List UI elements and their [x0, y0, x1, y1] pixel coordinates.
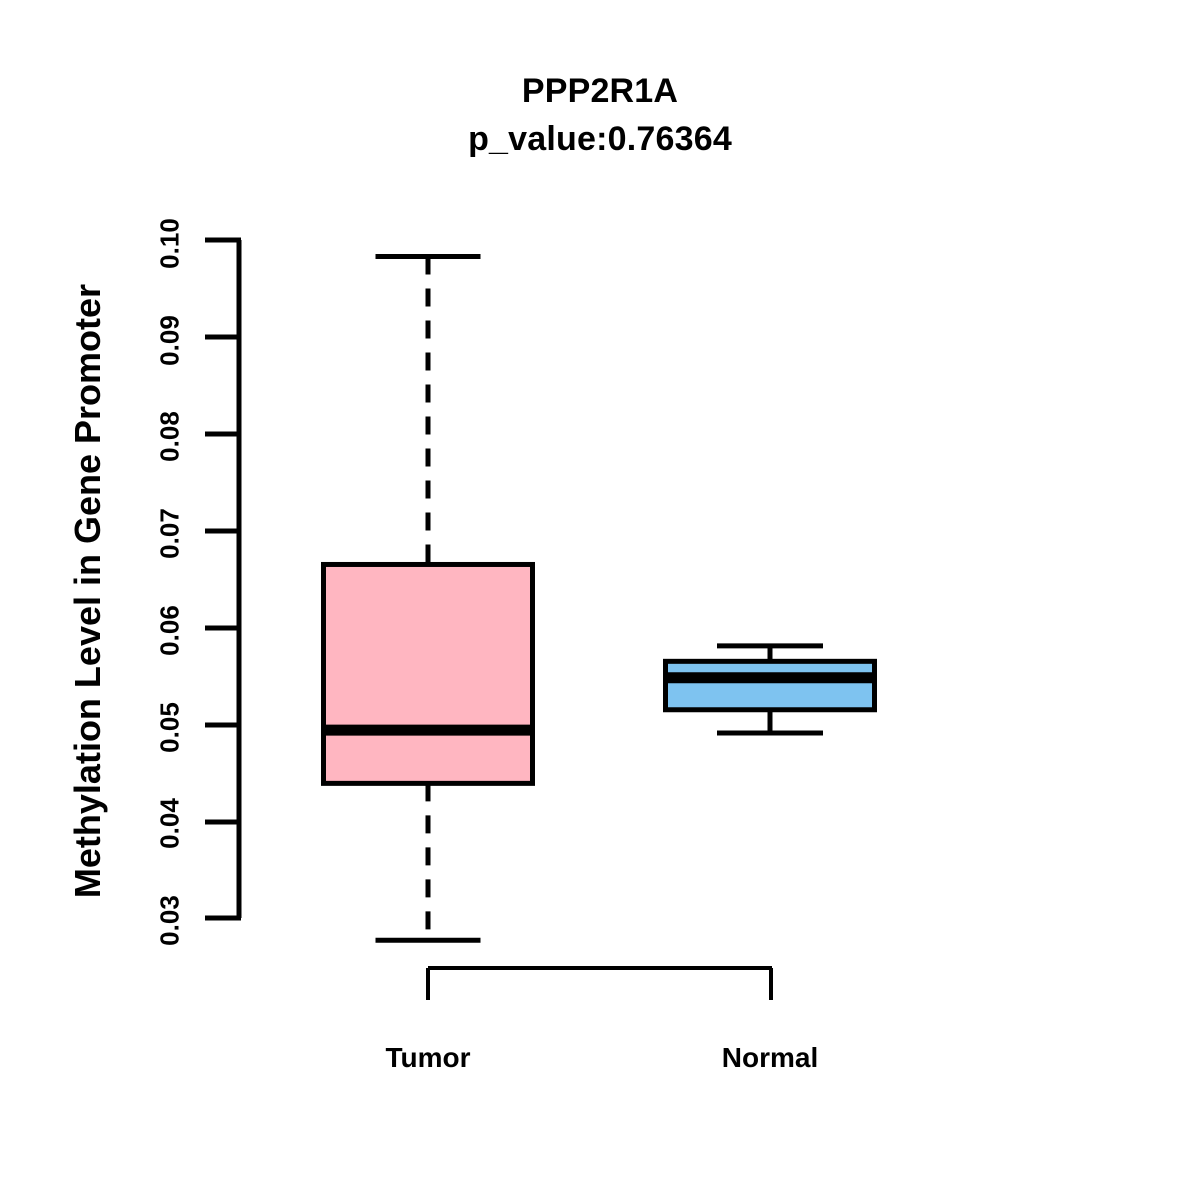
box-tumor: [324, 256, 533, 940]
normal-box-rect: [666, 661, 875, 709]
plot-canvas: [0, 0, 1200, 1200]
tumor-box-rect: [324, 564, 533, 783]
x-axis-bracket: [428, 968, 772, 1000]
boxplot-figure: PPP2R1A p_value:0.76364 Methylation Leve…: [0, 0, 1200, 1200]
y-axis: [205, 240, 241, 918]
box-normal: [666, 646, 875, 733]
